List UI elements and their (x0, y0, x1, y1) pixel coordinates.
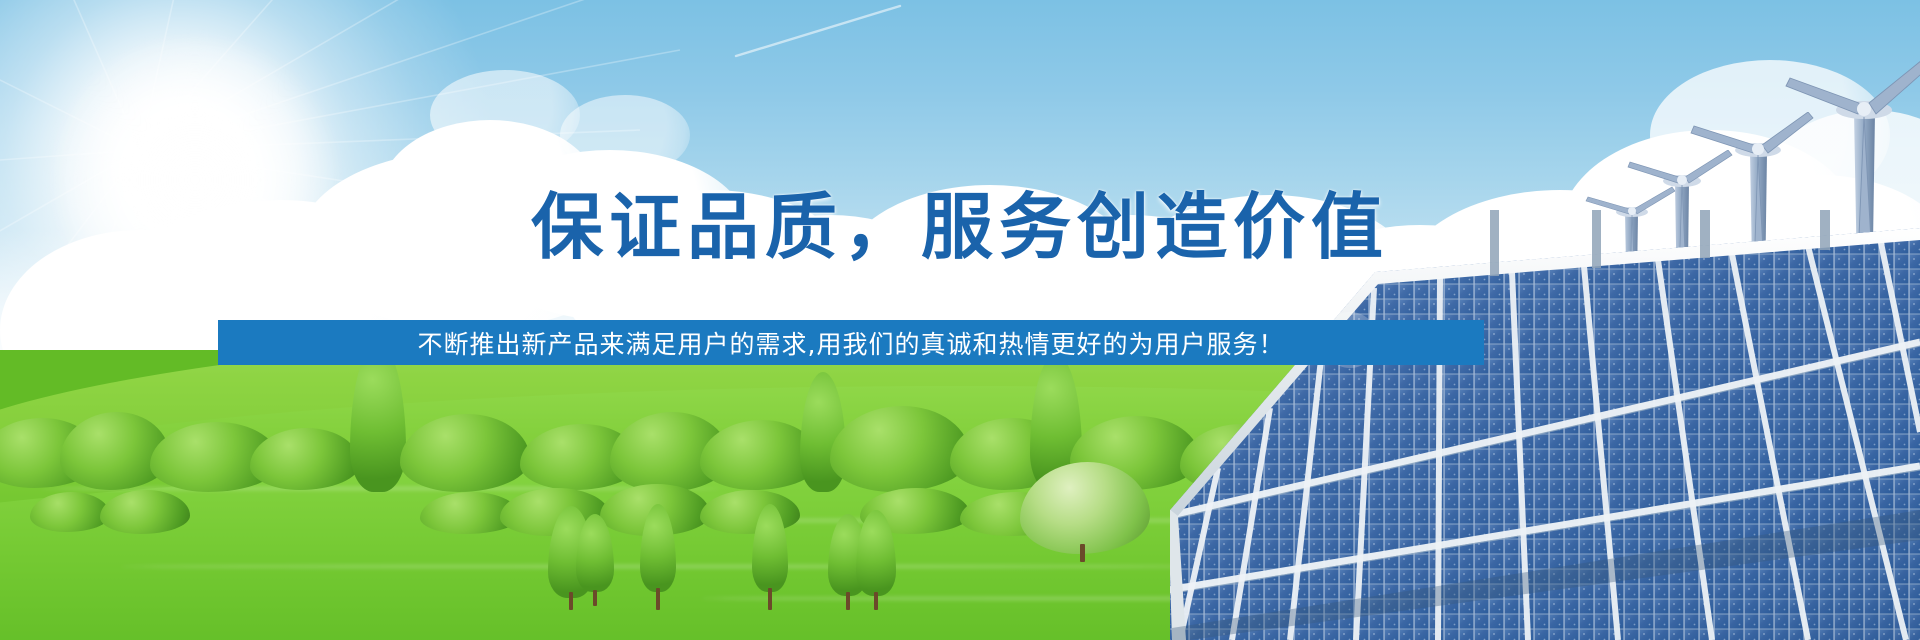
page-title: 保证品质，服务创造价值 (0, 168, 1920, 273)
subtitle-text: 不断推出新产品来满足用户的需求,用我们的真诚和热情更好的为用户服务！ (418, 325, 1285, 361)
subtitle-bar: 不断推出新产品来满足用户的需求,用我们的真诚和热情更好的为用户服务！ (218, 320, 1484, 365)
hero-banner: 保证品质，服务创造价值 不断推出新产品来满足用户的需求,用我们的真诚和热情更好的… (0, 0, 1920, 640)
solar-panel-array (1160, 210, 1920, 640)
